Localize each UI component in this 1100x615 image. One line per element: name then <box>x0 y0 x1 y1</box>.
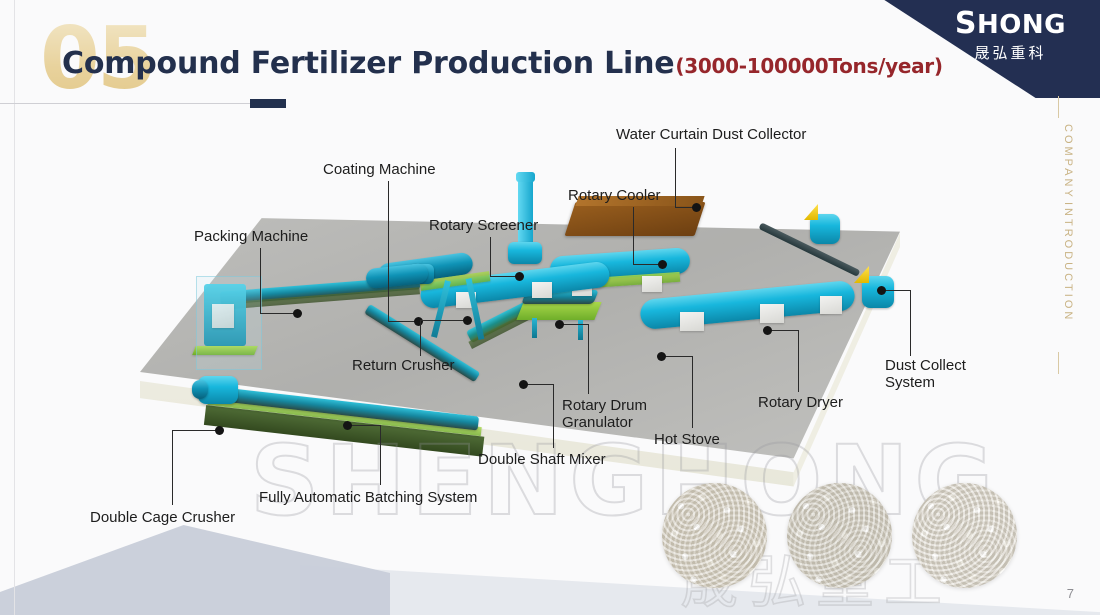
leader-packing-machine-v <box>260 248 261 314</box>
side-rail-line-2: INTRODUCTION <box>1060 202 1077 322</box>
anchor-double-cage-crusher <box>215 426 224 435</box>
page-title-text: Compound Fertilizer Production Line <box>62 46 674 81</box>
leader-rotary-cooler-v <box>633 207 634 265</box>
callout-label-rotary-screener: Rotary Screener <box>429 217 538 234</box>
leader-rotary-dryer-h <box>770 330 799 331</box>
leader-batching-system-h <box>350 425 381 426</box>
side-rail-line-1: COMPANY <box>1060 124 1077 200</box>
callout-label-hot-stove: Hot Stove <box>654 431 720 448</box>
leader-return-crusher-v <box>420 320 421 356</box>
callout-label-packing-machine: Packing Machine <box>194 228 308 245</box>
mixer-support-leg-2 <box>578 320 583 340</box>
leader-hot-stove-v <box>692 356 693 428</box>
product-granules-2 <box>787 483 892 588</box>
packing-machine-cage <box>196 276 262 370</box>
water-curtain-dust-collector-base <box>508 242 542 264</box>
rotary-dryer-support-1 <box>680 312 704 331</box>
anchor-double-shaft-mixer <box>519 380 528 389</box>
product-granules-3 <box>912 483 1017 588</box>
side-rail-tick-top <box>1058 96 1059 118</box>
leader-rotary-screener-v <box>490 237 491 277</box>
mixer-support-leg-1 <box>532 318 537 338</box>
callout-label-dust-collect-system: Dust Collect System <box>885 358 1015 392</box>
leader-rotary-dryer-v <box>798 330 799 392</box>
leader-water-curtain-v <box>675 148 676 208</box>
leader-batching-system-v <box>380 425 381 485</box>
slide-canvas: 05 Compound Fertilizer Production Line (… <box>0 0 1100 615</box>
anchor-rotary-dryer <box>763 326 772 335</box>
left-vertical-rule <box>14 0 15 615</box>
leader-rotary-drum-granulator-h <box>562 324 589 325</box>
dust-collect-system-vane-1 <box>804 204 818 220</box>
rotary-dryer-support-3 <box>820 296 842 314</box>
leader-hot-stove-h <box>665 356 693 357</box>
leader-coating-machine-v <box>388 181 389 321</box>
rotary-dryer-support-2 <box>760 304 784 323</box>
anchor-fully-automatic-batching-system <box>343 421 352 430</box>
leader-double-shaft-mixer-v <box>553 384 554 448</box>
callout-label-rotary-drum-granulator: Rotary Drum Granulator <box>562 398 662 432</box>
anchor-coating-machine <box>414 317 423 326</box>
double-cage-crusher-head <box>192 380 208 399</box>
leader-double-cage-crusher-v <box>172 430 173 505</box>
callout-label-double-shaft-mixer: Double Shaft Mixer <box>478 451 606 468</box>
rotary-cooler-support-2 <box>532 282 552 298</box>
leader-rotary-drum-granulator-v <box>588 324 589 394</box>
anchor-packing-machine <box>293 309 302 318</box>
callout-label-coating-machine: Coating Machine <box>323 161 436 178</box>
page-number: 7 <box>1067 586 1074 601</box>
page-title-suffix: (3000-100000Tons/year) <box>675 54 942 78</box>
callout-label-double-cage-crusher: Double Cage Crusher <box>90 509 235 526</box>
side-rail-label: COMPANY INTRODUCTION <box>1060 124 1077 322</box>
callout-label-return-crusher: Return Crusher <box>352 357 455 374</box>
anchor-return-crusher <box>463 316 472 325</box>
bottom-left-decor-shape <box>0 525 390 615</box>
brand-logo-lead: S <box>955 6 977 41</box>
product-granules-1 <box>662 483 767 588</box>
double-shaft-mixer-platform <box>516 302 601 320</box>
side-rail-tick-bottom <box>1058 352 1059 374</box>
anchor-rotary-cooler <box>658 260 667 269</box>
granulator-support-2 <box>642 276 662 292</box>
water-curtain-dust-collector-stack <box>518 178 533 250</box>
leader-double-shaft-mixer-h <box>526 384 554 385</box>
leader-return-crusher-h <box>420 320 466 321</box>
anchor-rotary-drum-granulator <box>555 320 564 329</box>
callout-label-fully-automatic-batching-system: Fully Automatic Batching System <box>259 489 477 506</box>
brand-logo-rest: HONG <box>977 10 1066 40</box>
brand-logo: SHONG 晟弘重科 <box>955 8 1066 63</box>
callout-label-rotary-cooler: Rotary Cooler <box>568 187 661 204</box>
anchor-rotary-screener <box>515 272 524 281</box>
anchor-dust-collect-system <box>877 286 886 295</box>
water-curtain-dust-collector-cap <box>516 172 535 182</box>
title-underline-accent <box>250 99 286 108</box>
brand-logo-wordmark: SHONG <box>955 8 1066 40</box>
brand-logo-chinese: 晟弘重科 <box>955 42 1066 63</box>
callout-label-water-curtain-dust-collector: Water Curtain Dust Collector <box>616 126 806 143</box>
anchor-water-curtain-dust-collector <box>692 203 701 212</box>
anchor-hot-stove <box>657 352 666 361</box>
leader-dust-collect-v <box>910 290 911 356</box>
leader-dust-collect-h <box>884 290 911 291</box>
page-title: Compound Fertilizer Production Line (300… <box>62 46 943 81</box>
callout-label-rotary-dryer: Rotary Dryer <box>758 394 843 411</box>
leader-double-cage-crusher-h <box>172 430 218 431</box>
title-underline <box>0 103 285 104</box>
